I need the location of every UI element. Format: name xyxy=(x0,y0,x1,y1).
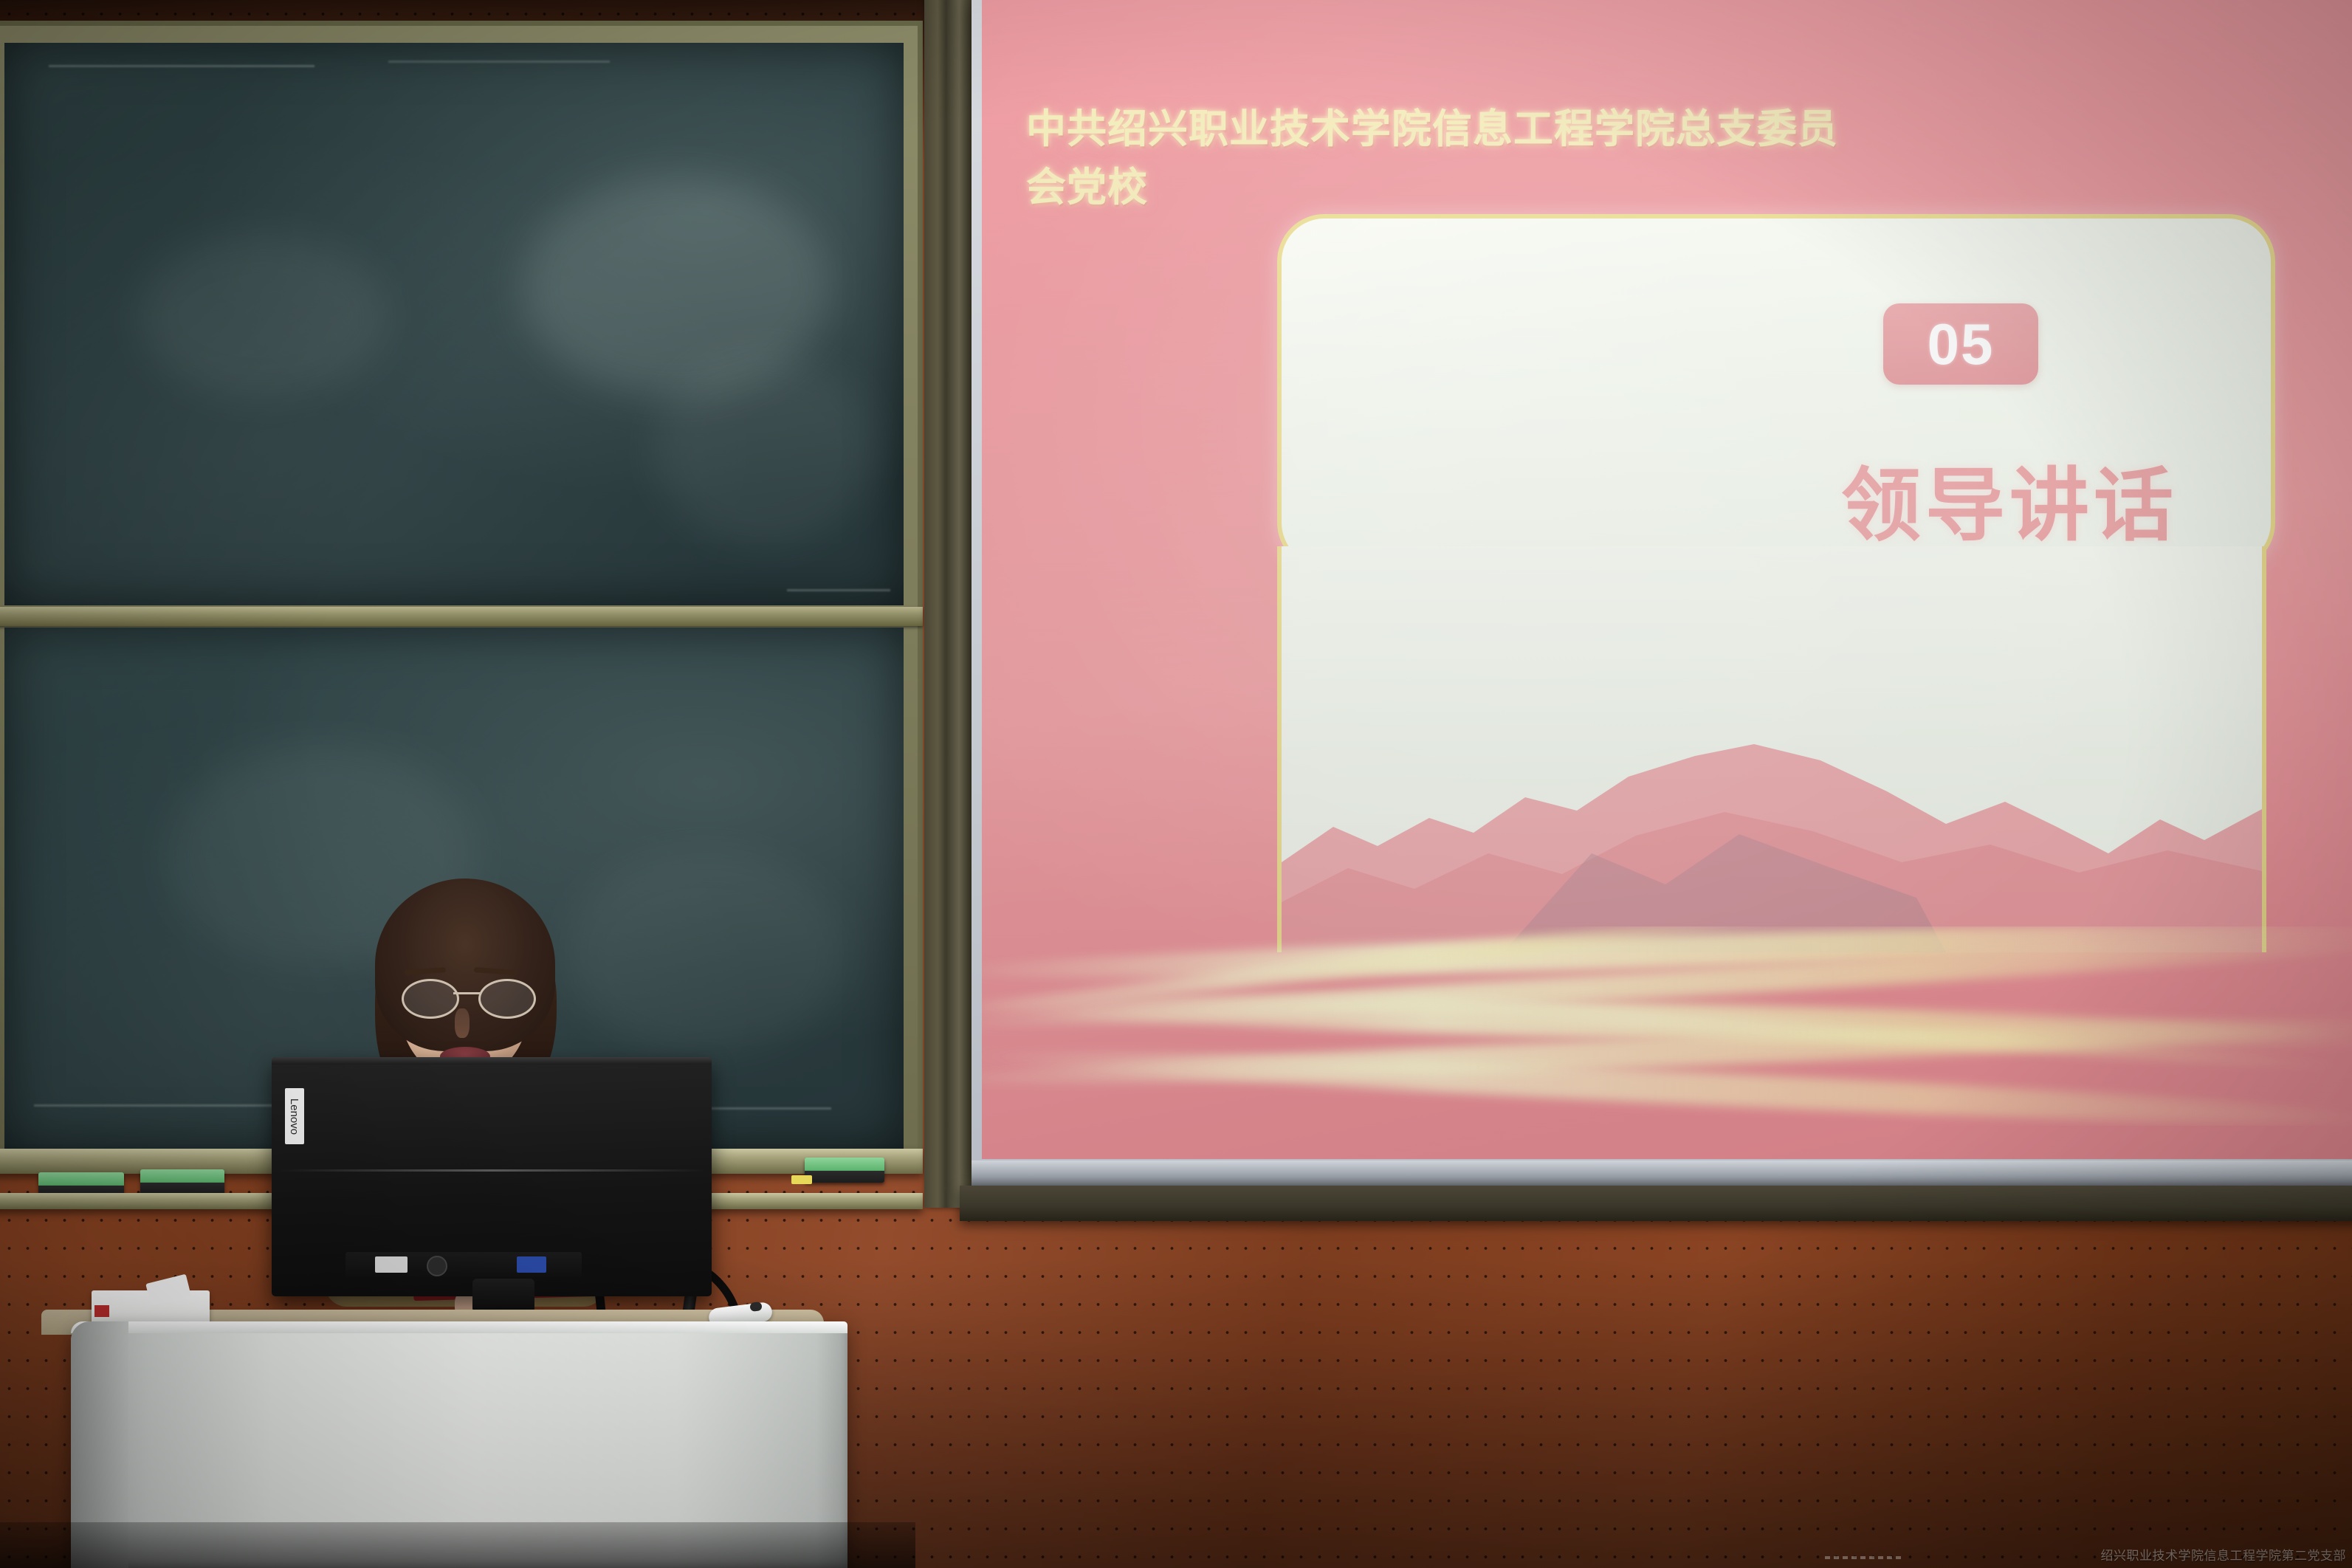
screen-bottom-trim xyxy=(972,1160,2352,1189)
chalkboard-middle-rail xyxy=(0,607,923,626)
monitor-port-bay xyxy=(345,1252,582,1277)
slide-banner-title: 中共绍兴职业技术学院信息工程学院总支委员会党校 xyxy=(1026,96,1838,213)
slide-white-card: 05 领导讲话 xyxy=(1277,214,2275,570)
glasses-lens-right xyxy=(478,979,536,1019)
glasses-lens-left xyxy=(402,979,459,1019)
chalk-stub xyxy=(791,1175,812,1184)
lenovo-monitor: Lenovo xyxy=(272,1057,712,1296)
projection-screen: 中共绍兴职业技术学院信息工程学院总支委员会党校 05 领导讲话 xyxy=(982,0,2352,1159)
podium-front-lip xyxy=(71,1321,847,1333)
presenter-nose xyxy=(455,1008,470,1038)
lenovo-logo-label: Lenovo xyxy=(285,1088,304,1144)
vga-port xyxy=(517,1256,546,1273)
photo-watermark: 绍兴职业技术学院信息工程学院第二党支部 xyxy=(2101,1545,2347,1564)
monitor-top-edge xyxy=(272,1057,712,1065)
mountain-svg xyxy=(1282,709,2262,952)
section-number-text: 05 xyxy=(1928,315,1995,373)
slide-gold-ribbon-band xyxy=(982,926,2352,1126)
chalkboard-upper-panel xyxy=(4,43,904,605)
monitor-panel-seam xyxy=(278,1169,706,1172)
chalkboard-eraser xyxy=(805,1158,884,1183)
section-number-badge: 05 xyxy=(1883,303,2038,385)
glasses-bridge xyxy=(453,992,481,994)
screen-weight-bar xyxy=(960,1186,2352,1221)
monitor-stand xyxy=(472,1279,534,1313)
watermark-dashes xyxy=(1825,1556,1905,1559)
hdmi-port xyxy=(375,1256,408,1273)
floor-shadow xyxy=(0,1522,915,1568)
lenovo-logo-text: Lenovo xyxy=(289,1098,301,1134)
tissue-box-red-stripe xyxy=(94,1305,109,1317)
photo-scene: 中共绍兴职业技术学院信息工程学院总支委员会党校 05 领导讲话 xyxy=(0,0,2352,1568)
section-heading-text: 领导讲话 xyxy=(1841,466,2178,546)
slide-mountain-illustration xyxy=(1277,709,2266,952)
power-port xyxy=(427,1256,447,1276)
presenter-glasses xyxy=(402,979,534,1017)
chalkboard-eraser xyxy=(140,1169,224,1194)
